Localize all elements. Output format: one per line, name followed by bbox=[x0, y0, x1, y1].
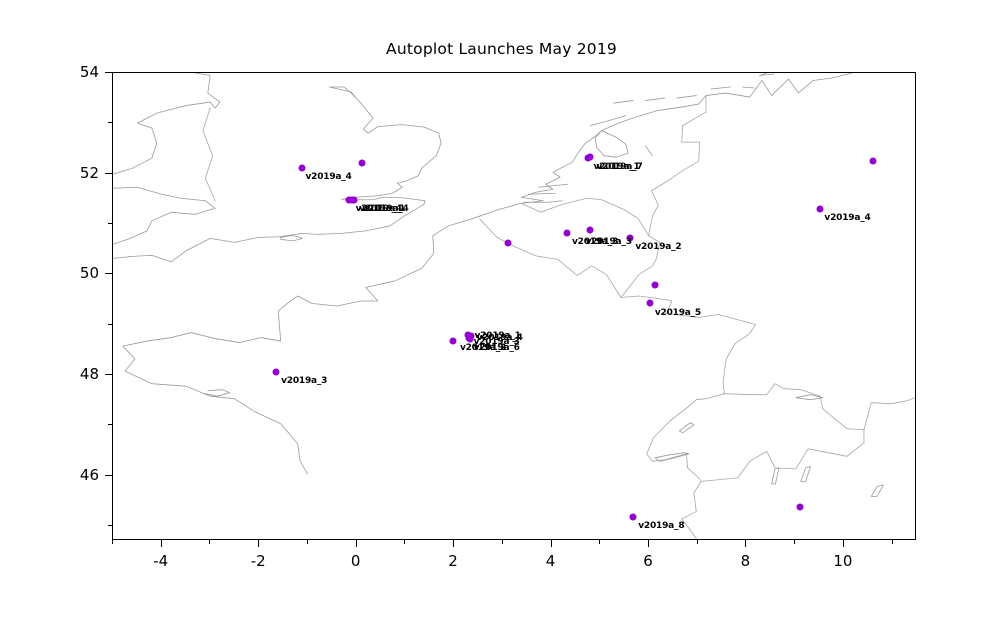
data-point-marker[interactable] bbox=[273, 369, 280, 376]
coastline-path bbox=[595, 131, 628, 158]
data-point-label: v2019a_2 bbox=[635, 243, 681, 252]
coastline-path bbox=[113, 187, 215, 258]
data-point-marker[interactable] bbox=[870, 158, 877, 165]
x-axis-minor-tick bbox=[404, 540, 405, 544]
chart-title: Autoplot Launches May 2019 bbox=[0, 40, 1003, 58]
y-axis-tick-label: 54 bbox=[0, 63, 99, 81]
x-axis-tick bbox=[843, 540, 844, 547]
country-border-path bbox=[724, 384, 820, 397]
x-axis-tick-label: -2 bbox=[251, 552, 266, 570]
y-axis-tick-label: 52 bbox=[0, 164, 99, 182]
x-axis-tick bbox=[161, 540, 162, 547]
data-point-label: v2019a_4 bbox=[305, 173, 351, 182]
data-point-label: v2019a_4 bbox=[362, 205, 408, 214]
y-axis-minor-tick bbox=[108, 122, 112, 123]
data-point-label: v2019a_3 bbox=[586, 238, 632, 247]
coastline-path bbox=[677, 96, 696, 99]
data-point-marker[interactable] bbox=[358, 159, 365, 166]
country-border-path bbox=[682, 481, 701, 539]
country-border-path bbox=[864, 398, 915, 430]
coastline-path bbox=[521, 73, 852, 201]
data-point-label: v2019a_7 bbox=[596, 163, 642, 172]
x-axis-tick bbox=[745, 540, 746, 547]
plot-axes: v2019a_4v2019a_4v2019a_1v2019a_4v2019a_1… bbox=[112, 72, 916, 540]
x-axis-tick bbox=[356, 540, 357, 547]
x-axis-minor-tick bbox=[112, 540, 113, 544]
coastline-path bbox=[759, 73, 774, 76]
data-point-marker[interactable] bbox=[348, 197, 355, 204]
y-axis-tick-label: 50 bbox=[0, 264, 99, 282]
x-axis-minor-tick bbox=[307, 540, 308, 544]
data-point-label: v2019a_8 bbox=[638, 522, 684, 531]
coastline-path bbox=[614, 101, 633, 104]
data-point-marker[interactable] bbox=[299, 164, 306, 171]
data-point-marker[interactable] bbox=[816, 205, 823, 212]
country-border-path bbox=[521, 198, 648, 236]
y-axis-minor-tick bbox=[108, 525, 112, 526]
coastline-path bbox=[772, 468, 779, 484]
data-point-marker[interactable] bbox=[564, 229, 571, 236]
x-axis-tick-label: 6 bbox=[643, 552, 653, 570]
data-point-label: v2019a_4 bbox=[824, 214, 870, 223]
coastline-path bbox=[113, 87, 441, 262]
country-border-path bbox=[723, 325, 756, 394]
x-axis-minor-tick bbox=[892, 540, 893, 544]
data-point-marker[interactable] bbox=[449, 337, 456, 344]
y-axis-tick bbox=[105, 273, 112, 274]
country-border-path bbox=[480, 219, 621, 297]
data-point-marker[interactable] bbox=[630, 513, 637, 520]
x-axis-minor-tick bbox=[599, 540, 600, 544]
country-border-path bbox=[647, 394, 725, 482]
data-point-label: v2019a_5 bbox=[655, 309, 701, 318]
coastline-path bbox=[711, 87, 730, 89]
data-point-marker[interactable] bbox=[646, 300, 653, 307]
x-axis-tick bbox=[648, 540, 649, 547]
data-point-marker[interactable] bbox=[797, 503, 804, 510]
x-axis-tick-label: -4 bbox=[153, 552, 168, 570]
x-axis-minor-tick bbox=[209, 540, 210, 544]
coastline-path bbox=[590, 116, 625, 126]
y-axis-tick bbox=[105, 173, 112, 174]
y-axis-tick-label: 48 bbox=[0, 365, 99, 383]
y-axis-minor-tick bbox=[108, 424, 112, 425]
y-axis-tick-label: 46 bbox=[0, 466, 99, 484]
coastline-path bbox=[645, 146, 652, 156]
data-point-label: v2019a_6 bbox=[474, 344, 520, 353]
x-axis-tick bbox=[258, 540, 259, 547]
coastline-path bbox=[801, 466, 811, 481]
y-axis-minor-tick bbox=[108, 324, 112, 325]
data-point-marker[interactable] bbox=[585, 154, 592, 161]
y-axis-tick bbox=[105, 475, 112, 476]
map-basemap bbox=[113, 73, 915, 539]
country-border-path bbox=[649, 96, 706, 236]
country-border-path bbox=[203, 108, 215, 201]
x-axis-minor-tick bbox=[697, 540, 698, 544]
coastline-path bbox=[871, 485, 883, 497]
data-point-marker[interactable] bbox=[586, 227, 593, 234]
data-point-marker[interactable] bbox=[651, 282, 658, 289]
coastline-path bbox=[645, 98, 664, 101]
country-border-path bbox=[701, 396, 864, 481]
coastline-path bbox=[205, 390, 229, 397]
coastline-path bbox=[679, 423, 694, 433]
coastlines-group bbox=[113, 73, 883, 496]
x-axis-minor-tick bbox=[794, 540, 795, 544]
x-axis-tick bbox=[551, 540, 552, 547]
x-axis-tick-label: 2 bbox=[448, 552, 458, 570]
coastline-path bbox=[538, 184, 567, 187]
coastline-path bbox=[742, 87, 754, 88]
y-axis-minor-tick bbox=[108, 223, 112, 224]
x-axis-tick-label: 10 bbox=[833, 552, 852, 570]
x-axis-tick-label: 0 bbox=[351, 552, 361, 570]
x-axis-minor-tick bbox=[502, 540, 503, 544]
x-axis-tick-label: 8 bbox=[741, 552, 751, 570]
y-axis-tick bbox=[105, 374, 112, 375]
x-axis-tick-label: 4 bbox=[546, 552, 556, 570]
coastline-path bbox=[113, 73, 220, 174]
data-point-label: v2019a_3 bbox=[281, 377, 327, 386]
x-axis-tick bbox=[453, 540, 454, 547]
figure-canvas: Autoplot Launches May 2019 v2019a_4v2019… bbox=[0, 0, 1003, 633]
y-axis-tick bbox=[105, 72, 112, 73]
data-point-marker[interactable] bbox=[504, 239, 511, 246]
